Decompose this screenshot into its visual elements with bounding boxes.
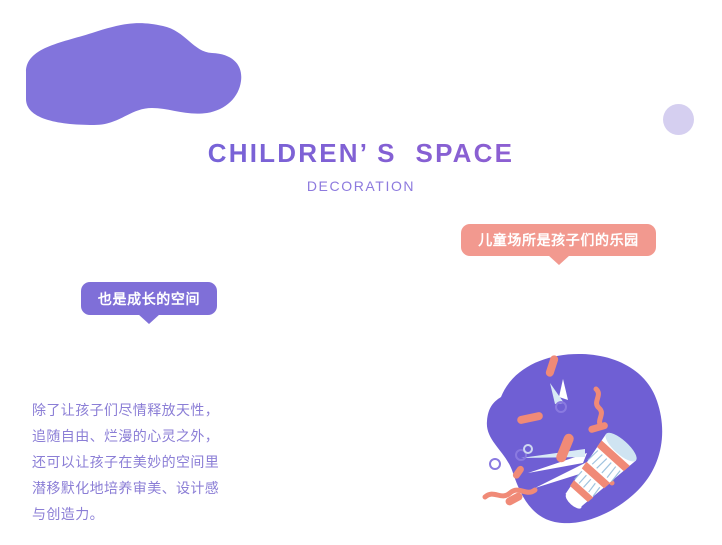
badge-purple-label: 也是成长的空间 [98, 289, 200, 309]
badge-pink-tail-icon [548, 255, 570, 265]
purple-blob-top-left [0, 0, 270, 150]
badge-growth-space[interactable]: 也是成长的空间 [81, 282, 217, 315]
badge-purple-tail-icon [138, 314, 160, 324]
badge-children-playground[interactable]: 儿童场所是孩子们的乐园 [461, 224, 656, 256]
badge-pink-label: 儿童场所是孩子们的乐园 [478, 230, 639, 250]
body-paragraph: 除了让孩子们尽情释放天性，追随自由、烂漫的心灵之外，还可以让孩子在美妙的空间里潜… [32, 398, 228, 528]
page-title: CHILDREN’ S SPACE [0, 136, 722, 170]
poster-canvas: CHILDREN’ S SPACE DECORATION 儿童场所是孩子们的乐园… [0, 0, 722, 540]
page-subtitle: DECORATION [0, 176, 722, 196]
party-popper-illustration [465, 345, 680, 540]
heading-block: CHILDREN’ S SPACE DECORATION [0, 136, 722, 196]
lavender-circle-decoration [663, 104, 694, 135]
